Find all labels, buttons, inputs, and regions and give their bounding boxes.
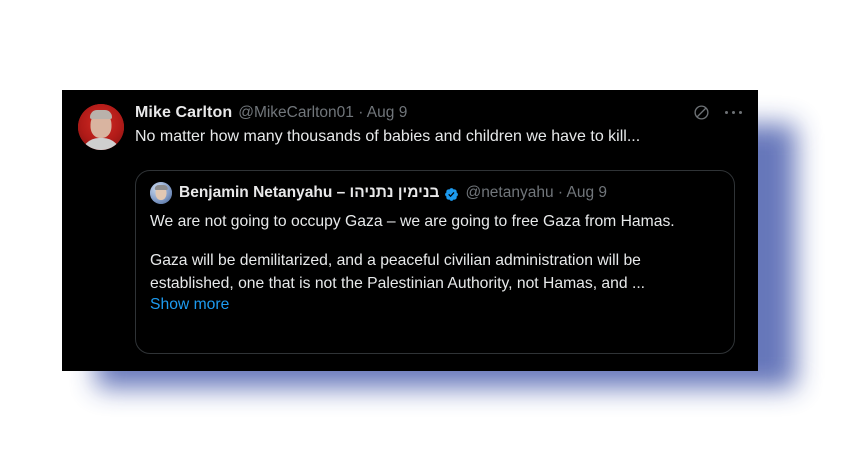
avatar-hair [90,110,112,119]
page-canvas: Mike Carlton @MikeCarlton01 · Aug 9 No m… [0,0,858,461]
quoted-paragraph-1: We are not going to occupy Gaza – we are… [150,211,710,233]
quoted-paragraph-2: Gaza will be demilitarized, and a peacef… [150,250,710,295]
quoted-display-name[interactable]: Benjamin Netanyahu – בנימין נתניהו [179,184,439,202]
tweet-handle-and-date[interactable]: @MikeCarlton01 · Aug 9 [238,103,407,122]
verified-badge-icon [444,187,459,202]
quoted-handle-and-date[interactable]: @netanyahu · Aug 9 [465,184,607,202]
quoted-tweet-header: Benjamin Netanyahu – בנימין נתניהו @neta… [150,182,720,204]
tweet-name-line: Mike Carlton @MikeCarlton01 · Aug 9 [135,103,744,123]
more-options-icon[interactable] [725,111,742,114]
tweet-header: Mike Carlton @MikeCarlton01 · Aug 9 No m… [62,90,758,150]
show-more-link[interactable]: Show more [150,296,229,314]
tweet-body-text: No matter how many thousands of babies a… [135,126,744,147]
grok-icon[interactable] [693,104,710,121]
tweet-display-name[interactable]: Mike Carlton [135,103,232,123]
benjamin-netanyahu-avatar[interactable] [150,182,172,204]
quoted-tweet[interactable]: Benjamin Netanyahu – בנימין נתניהו @neta… [135,170,735,354]
mike-carlton-avatar[interactable] [78,104,124,150]
tweet-card: Mike Carlton @MikeCarlton01 · Aug 9 No m… [62,90,758,371]
quoted-avatar-hair [155,185,168,190]
tweet-header-text: Mike Carlton @MikeCarlton01 · Aug 9 No m… [135,103,744,147]
tweet-top-actions [693,104,742,121]
